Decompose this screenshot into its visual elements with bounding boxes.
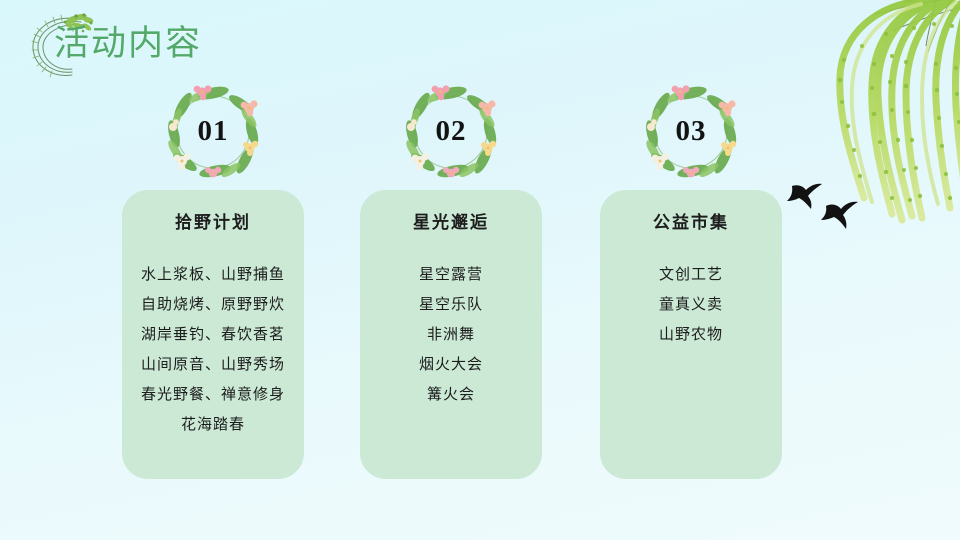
list-item: 山野农物 <box>610 320 772 350</box>
slide-canvas: 活动内容 <box>0 0 960 540</box>
card-item-list: 文创工艺 童真义卖 山野农物 <box>610 260 772 350</box>
list-item: 湖岸垂钓、春饮香茗 <box>132 320 294 350</box>
card-heading: 公益市集 <box>610 212 772 234</box>
column-number: 01 <box>157 115 269 148</box>
floral-wreath-icon: 03 <box>635 78 747 186</box>
list-item: 星空露营 <box>370 260 532 290</box>
list-item: 烟火大会 <box>370 350 532 380</box>
list-item: 童真义卖 <box>610 290 772 320</box>
column-number: 02 <box>395 115 507 148</box>
floral-wreath-icon: 02 <box>395 78 507 186</box>
card-heading: 拾野计划 <box>132 212 294 234</box>
content-column-3: 03 公益市集 文创工艺 童真义卖 山野农物 <box>600 78 782 479</box>
list-item: 自助烧烤、原野野炊 <box>132 290 294 320</box>
content-columns: 01 拾野计划 水上浆板、山野捕鱼 自助烧烤、原野野炊 湖岸垂钓、春饮香茗 山间… <box>0 0 960 540</box>
list-item: 文创工艺 <box>610 260 772 290</box>
list-item: 篝火会 <box>370 380 532 410</box>
activity-card[interactable]: 星光邂逅 星空露营 星空乐队 非洲舞 烟火大会 篝火会 <box>360 190 542 479</box>
card-item-list: 水上浆板、山野捕鱼 自助烧烤、原野野炊 湖岸垂钓、春饮香茗 山间原音、山野秀场 … <box>132 260 294 440</box>
activity-card[interactable]: 拾野计划 水上浆板、山野捕鱼 自助烧烤、原野野炊 湖岸垂钓、春饮香茗 山间原音、… <box>122 190 304 479</box>
activity-card[interactable]: 公益市集 文创工艺 童真义卖 山野农物 <box>600 190 782 479</box>
list-item: 星空乐队 <box>370 290 532 320</box>
column-number: 03 <box>635 115 747 148</box>
content-column-2: 02 星光邂逅 星空露营 星空乐队 非洲舞 烟火大会 篝火会 <box>360 78 542 479</box>
list-item: 非洲舞 <box>370 320 532 350</box>
list-item: 水上浆板、山野捕鱼 <box>132 260 294 290</box>
floral-wreath-icon: 01 <box>157 78 269 186</box>
card-heading: 星光邂逅 <box>370 212 532 234</box>
list-item: 花海踏春 <box>132 410 294 440</box>
content-column-1: 01 拾野计划 水上浆板、山野捕鱼 自助烧烤、原野野炊 湖岸垂钓、春饮香茗 山间… <box>122 78 304 479</box>
card-item-list: 星空露营 星空乐队 非洲舞 烟火大会 篝火会 <box>370 260 532 410</box>
list-item: 山间原音、山野秀场 <box>132 350 294 380</box>
list-item: 春光野餐、禅意修身 <box>132 380 294 410</box>
